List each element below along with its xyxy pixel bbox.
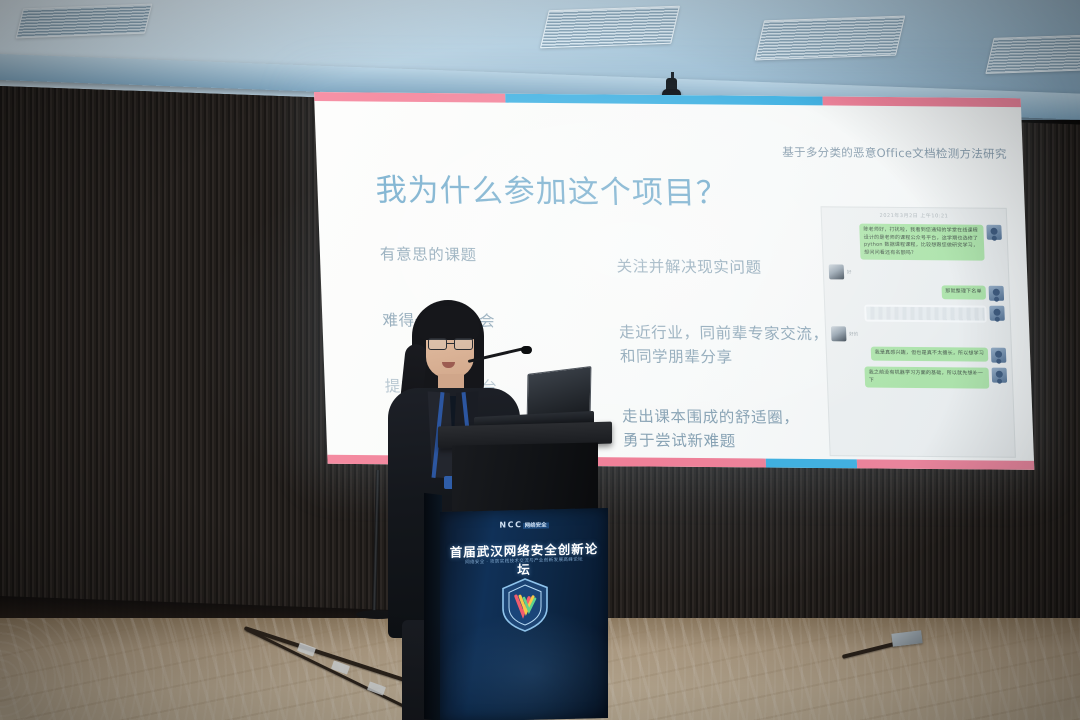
podium-logo: NCC网络安全: [486, 519, 562, 530]
image-placeholder: [866, 307, 985, 321]
hair-fringe: [418, 306, 480, 340]
chat-message-row: 我是真感兴趣，但也是真不太擅长，所以想学习: [832, 346, 1007, 363]
chat-message-row: 陈老师好，打扰啦，我看到您通知的学堂在线课程设计的是老师的课程公众号平台，这学期…: [827, 223, 1002, 260]
chat-date-stamp: 2021年3月2日 上午10:21: [822, 211, 1006, 220]
chat-bubble-image: [864, 305, 987, 323]
bar-segment-cyan: [765, 459, 857, 469]
conference-photo-scene: 基于多分类的恶意Office文档检测方法研究 我为什么参加这个项目？ 有意思的课…: [0, 0, 1080, 720]
slide-main-title: 我为什么参加这个项目？: [375, 164, 729, 212]
microphone-head-icon: [521, 346, 532, 354]
avatar: [831, 326, 847, 341]
podium-logo-text: NCC: [499, 520, 522, 530]
bar-segment-cyan: [505, 94, 823, 106]
chat-message-row: 那就整理下名单: [829, 284, 1004, 301]
bar-segment-pink: [823, 96, 1021, 107]
podium-logo-badge: 网络安全: [523, 522, 549, 529]
chat-bubble-incoming: 好的: [849, 331, 858, 337]
chat-bubble-outgoing: 我是真感兴趣，但也是真不太擅长，所以想学习: [871, 347, 989, 362]
avatar: [989, 306, 1005, 321]
chat-screenshot: 2021年3月2日 上午10:21 陈老师好，打扰啦，我看到您通知的学堂在线课程…: [821, 206, 1016, 457]
bar-segment-pink: [857, 459, 1034, 470]
avatar: [829, 264, 845, 279]
avatar: [989, 286, 1005, 301]
glasses-icon: [428, 338, 473, 350]
chat-bubble-outgoing: 陈老师好，打扰啦，我看到您通知的学堂在线课程设计的是老师的课程公众号平台，这学期…: [859, 224, 984, 261]
podium: NCC网络安全 首届武汉网络安全创新论坛 网络安全 · 攻防实践技术交流与产业创…: [440, 424, 608, 720]
slide-header-title: 基于多分类的恶意Office文档检测方法研究: [782, 144, 1007, 162]
chat-message-row: [830, 304, 1005, 323]
glasses-lens: [454, 338, 473, 350]
glasses-lens: [428, 338, 447, 350]
glasses-bridge: [447, 343, 454, 344]
air-vent: [755, 16, 906, 61]
ceiling-spotlight-icon: [666, 78, 677, 94]
air-vent: [540, 6, 680, 49]
avatar: [986, 225, 1002, 240]
chat-bubble-incoming: 好: [847, 269, 852, 275]
air-vent: [985, 34, 1080, 74]
avatar: [991, 348, 1007, 363]
bullet-left-1: 有意思的课题: [380, 242, 621, 268]
chat-message-row: 好的: [831, 326, 1006, 343]
chat-bubble-outgoing: 我之前没有机器学习方面的基础，所以就先想补一下: [864, 367, 989, 389]
avatar: [992, 368, 1008, 383]
chat-message-row: 好: [829, 264, 1004, 281]
air-vent: [16, 4, 153, 39]
chat-message-row: 我之前没有机器学习方面的基础，所以就先想补一下: [832, 366, 1007, 389]
podium-upper-body: [452, 442, 598, 517]
chat-bubble-outgoing: 那就整理下名单: [941, 285, 986, 299]
bar-segment-pink: [314, 92, 505, 103]
shield-emblem-icon: [498, 575, 552, 634]
